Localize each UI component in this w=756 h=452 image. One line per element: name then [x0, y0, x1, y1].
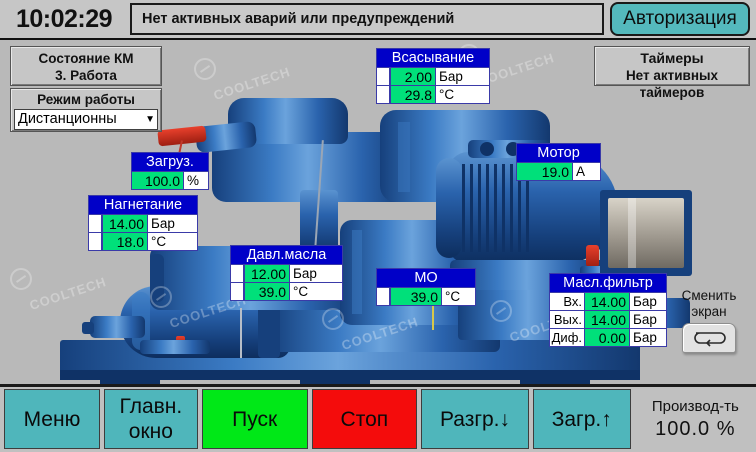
motor-panel: Мотор 19.0 A: [516, 143, 601, 181]
mo-panel: МО 39.0 °C: [376, 268, 476, 306]
suction-panel: Всасывание 2.00 Бар 29.8 °C: [376, 48, 490, 104]
load-percent-row: 100.0 %: [132, 171, 208, 189]
main-window-label-line2: окно: [129, 419, 173, 444]
compressor-state-box: Состояние КМ 3. Работа: [10, 46, 162, 86]
suction-panel-title: Всасывание: [377, 49, 489, 67]
suction-temperature-value: 29.8: [390, 86, 436, 103]
main-window-label-line1: Главн.: [120, 394, 183, 419]
motor-current-row: 19.0 A: [517, 162, 600, 180]
change-screen-label-line1: Сменить: [666, 288, 752, 304]
suction-pressure-row: 2.00 Бар: [377, 67, 489, 85]
bottom-toolbar: Меню Главн. окно Пуск Стоп Разгр.↓ Загр.…: [0, 384, 756, 452]
watermark-ring-icon: [10, 268, 32, 290]
oil-filter-panel-title: Масл.фильтр: [550, 274, 666, 292]
menu-button[interactable]: Меню: [4, 389, 100, 449]
oil-temperature-row: 39.0 °C: [231, 282, 342, 300]
discharge-temperature-value: 18.0: [102, 233, 148, 250]
watermark-text: COOLTECH: [28, 274, 109, 313]
timers-title: Таймеры: [595, 49, 749, 67]
oil-filter-inlet-row: Вх. 14.00 Бар: [550, 292, 666, 310]
oil-pressure-row: 12.00 Бар: [231, 264, 342, 282]
load-panel: Загруз. 100.0 %: [131, 152, 209, 190]
spacer: [377, 68, 390, 85]
motor-panel-title: Мотор: [517, 144, 600, 162]
capacity-label: Производ-ть: [652, 397, 739, 417]
oil-temperature-value: 39.0: [244, 283, 290, 300]
watermark-ring-icon: [194, 58, 216, 80]
oil-filter-inlet-label: Вх.: [550, 293, 584, 310]
oil-filter-outlet-unit: Бар: [630, 311, 660, 328]
load-panel-title: Загруз.: [132, 153, 208, 171]
oil-filter-inlet-unit: Бар: [630, 293, 660, 310]
discharge-pressure-row: 14.00 Бар: [89, 214, 197, 232]
suction-pressure-unit: Бар: [436, 68, 466, 85]
mo-temperature-unit: °C: [442, 288, 470, 305]
chevron-down-icon[interactable]: ▼: [143, 114, 155, 125]
mo-temperature-value: 39.0: [390, 288, 442, 305]
oil-filter-panel: Масл.фильтр Вх. 14.00 Бар Вых. 14.00 Бар…: [549, 273, 667, 347]
spacer: [89, 215, 102, 232]
change-screen-button[interactable]: [682, 323, 736, 353]
change-screen-label-line2: экран: [666, 304, 752, 320]
start-button[interactable]: Пуск: [202, 389, 308, 449]
motor-current-unit: A: [573, 163, 593, 180]
unload-button[interactable]: Разгр.↓: [421, 389, 529, 449]
oil-filter-outlet-value: 14.00: [584, 311, 630, 328]
motor-current-value: 19.0: [517, 163, 573, 180]
capacity-value: 100.0 %: [655, 417, 735, 441]
oil-filter-diff-row: Диф. 0.00 Бар: [550, 328, 666, 346]
discharge-temperature-row: 18.0 °C: [89, 232, 197, 250]
compressor-state-label: Состояние КМ: [11, 50, 161, 67]
compressor-state-value: 3. Работа: [11, 67, 161, 84]
capacity-readout: Производ-ть 100.0 %: [637, 389, 754, 449]
hmi-screen: 10:02:29 Нет активных аварий или предупр…: [0, 0, 756, 452]
oil-filter-inlet-value: 14.00: [584, 293, 630, 310]
discharge-pressure-unit: Бар: [148, 215, 178, 232]
load-button[interactable]: Загр.↑: [533, 389, 631, 449]
discharge-panel: Нагнетание 14.00 Бар 18.0 °C: [88, 195, 198, 251]
oil-filter-outlet-label: Вых.: [550, 311, 584, 328]
oil-filter-outlet-row: Вых. 14.00 Бар: [550, 310, 666, 328]
discharge-pressure-value: 14.00: [102, 215, 148, 232]
spacer: [231, 265, 244, 282]
load-percent-unit: %: [184, 172, 204, 189]
loop-arrow-icon: [690, 329, 728, 347]
operating-mode-value: Дистанционны: [18, 110, 117, 129]
oil-temperature-unit: °C: [290, 283, 318, 300]
machine-graphic-area: COOLTECH COOLTECH COOLTECH COOLTECH COOL…: [0, 40, 756, 384]
spacer: [89, 233, 102, 250]
discharge-temperature-unit: °C: [148, 233, 176, 250]
spacer: [377, 288, 390, 305]
oil-pressure-unit: Бар: [290, 265, 320, 282]
main-window-button[interactable]: Главн. окно: [104, 389, 198, 449]
clock-display: 10:02:29: [0, 0, 128, 38]
oil-filter-diff-value: 0.00: [584, 329, 630, 346]
timers-text: Нет активных таймеров: [595, 67, 749, 101]
suction-temperature-row: 29.8 °C: [377, 85, 489, 103]
authorization-button[interactable]: Авторизация: [610, 2, 750, 36]
load-percent-value: 100.0: [132, 172, 184, 189]
spacer: [231, 283, 244, 300]
operating-mode-select[interactable]: Дистанционны ▼: [14, 109, 158, 130]
oil-filter-diff-label: Диф.: [550, 329, 584, 346]
mo-panel-title: МО: [377, 269, 475, 287]
spacer: [377, 86, 390, 103]
operating-mode-box: Режим работы Дистанционны ▼: [10, 88, 162, 132]
suction-temperature-unit: °C: [436, 86, 464, 103]
change-screen-control: Сменить экран: [666, 288, 752, 353]
oil-pressure-value: 12.00: [244, 265, 290, 282]
oil-pressure-panel: Давл.масла 12.00 Бар 39.0 °C: [230, 245, 343, 301]
oil-pressure-panel-title: Давл.масла: [231, 246, 342, 264]
timers-box: Таймеры Нет активных таймеров: [594, 46, 750, 86]
mo-temperature-row: 39.0 °C: [377, 287, 475, 305]
oil-filter-diff-unit: Бар: [630, 329, 660, 346]
alarm-status-bar: Нет активных аварий или предупреждений: [130, 3, 604, 35]
suction-pressure-value: 2.00: [390, 68, 436, 85]
discharge-panel-title: Нагнетание: [89, 196, 197, 214]
stop-button[interactable]: Стоп: [312, 389, 418, 449]
operating-mode-label: Режим работы: [11, 91, 161, 108]
header-bar: 10:02:29 Нет активных аварий или предупр…: [0, 0, 756, 40]
